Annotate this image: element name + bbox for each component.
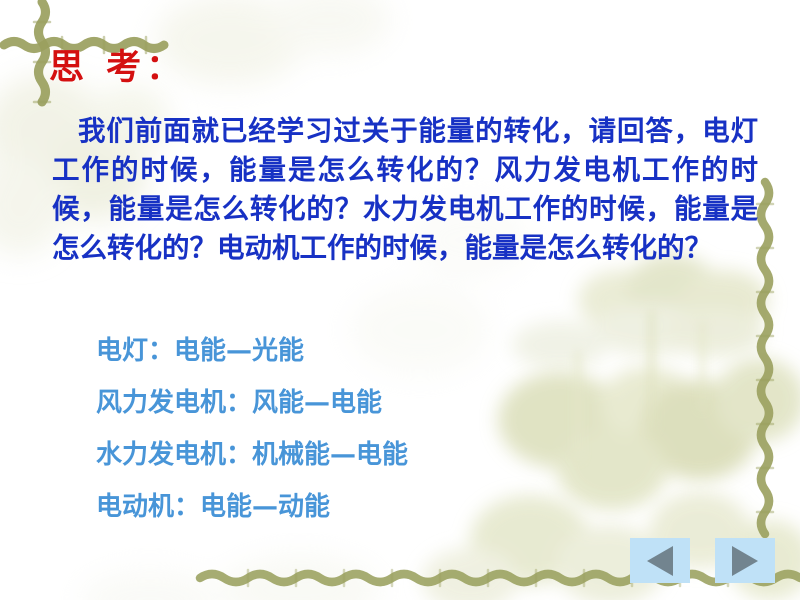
list-item: 电灯：电能—光能 — [96, 325, 736, 377]
next-slide-button[interactable] — [715, 538, 775, 583]
triangle-left-icon — [647, 546, 673, 576]
triangle-right-icon — [732, 546, 758, 576]
page-title: 思 考： — [49, 50, 186, 87]
list-item: 水力发电机：机械能—电能 — [96, 429, 736, 481]
list-item: 电动机：电能—动能 — [96, 481, 736, 533]
list-item: 风力发电机：风能—电能 — [96, 377, 736, 429]
question-paragraph: 我们前面就已经学习过关于能量的转化，请回答，电灯工作的时候，能量是怎么转化的？风… — [52, 112, 758, 268]
presentation-slide: 思 考： 我们前面就已经学习过关于能量的转化，请回答，电灯工作的时候，能量是怎么… — [0, 0, 800, 600]
answers-list: 电灯：电能—光能 风力发电机：风能—电能 水力发电机：机械能—电能 电动机：电能… — [96, 325, 736, 533]
previous-slide-button[interactable] — [630, 538, 690, 583]
